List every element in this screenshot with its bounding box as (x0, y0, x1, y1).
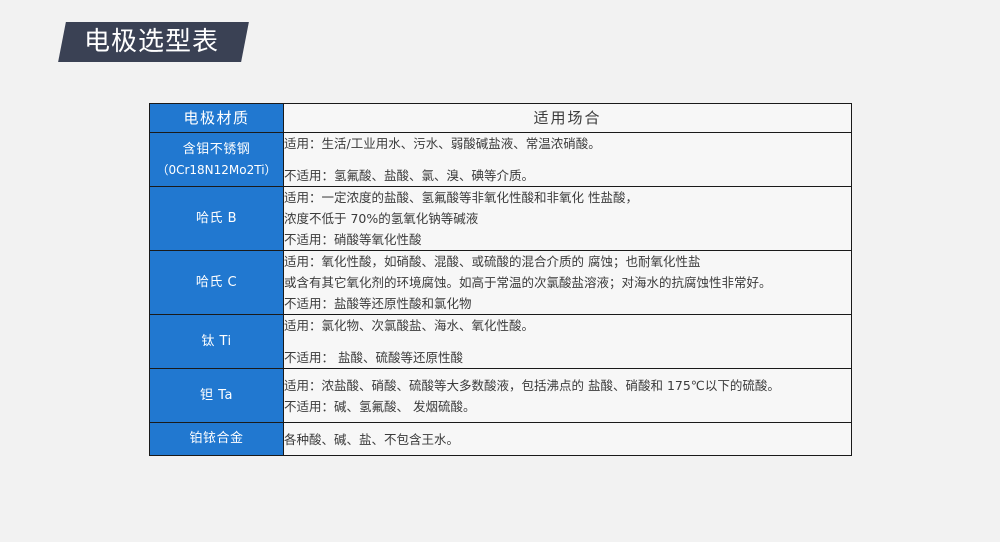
application-line: 不适用：盐酸等还原性酸和氯化物 (284, 293, 851, 314)
application-line: 适用：氧化性酸，如硝酸、混酸、或硫酸的混合介质的 腐蚀；也耐氧化性盐 (284, 251, 851, 272)
application-line: 适用：浓盐酸、硝酸、硫酸等大多数酸液，包括沸点的 盐酸、硝酸和 175℃以下的硫… (284, 375, 851, 396)
material-cell: 含钼不锈钢（0Cr18N12Mo2Ti） (150, 133, 284, 187)
application-cell: 适用：一定浓度的盐酸、氢氟酸等非氧化性酸和非氧化 性盐酸，浓度不低于 70%的氢… (284, 187, 852, 251)
material-name: 钛 Ti (201, 334, 231, 349)
table-row: 钛 Ti适用：氯化物、次氯酸盐、海水、氧化性酸。不适用： 盐酸、硫酸等还原性酸 (150, 315, 852, 369)
material-name: 含钼不锈钢 (183, 142, 251, 157)
material-cell: 哈氏 C (150, 251, 284, 315)
material-name: 铂铱合金 (189, 431, 243, 446)
application-cell: 各种酸、碱、盐、不包含王水。 (284, 423, 852, 456)
page-title: 电极选型表 (84, 29, 219, 55)
material-cell: 钽 Ta (150, 369, 284, 423)
application-line: 不适用：硝酸等氧化性酸 (284, 229, 851, 250)
application-line: 不适用：氢氟酸、盐酸、氯、溴、碘等介质。 (284, 165, 851, 186)
table-row: 钽 Ta适用：浓盐酸、硝酸、硫酸等大多数酸液，包括沸点的 盐酸、硝酸和 175℃… (150, 369, 852, 423)
application-line: 适用：生活/工业用水、污水、弱酸碱盐液、常温浓硝酸。 (284, 133, 851, 154)
application-cell: 适用：浓盐酸、硝酸、硫酸等大多数酸液，包括沸点的 盐酸、硝酸和 175℃以下的硫… (284, 369, 852, 423)
header-material: 电极材质 (150, 104, 284, 133)
page-title-badge: 电极选型表 (58, 22, 249, 62)
application-line: 各种酸、碱、盐、不包含王水。 (284, 429, 851, 450)
application-line: 或含有其它氧化剂的环境腐蚀。如高于常温的次氯酸盐溶液；对海水的抗腐蚀性非常好。 (284, 272, 851, 293)
table-row: 哈氏 B适用：一定浓度的盐酸、氢氟酸等非氧化性酸和非氧化 性盐酸，浓度不低于 7… (150, 187, 852, 251)
application-line: 适用：一定浓度的盐酸、氢氟酸等非氧化性酸和非氧化 性盐酸， (284, 187, 851, 208)
header-application: 适用场合 (284, 104, 852, 133)
material-name: 哈氏 C (196, 275, 237, 290)
electrode-selection-table: 电极材质 适用场合 含钼不锈钢（0Cr18N12Mo2Ti）适用：生活/工业用水… (149, 103, 852, 456)
material-cell: 铂铱合金 (150, 423, 284, 456)
application-cell: 适用：氧化性酸，如硝酸、混酸、或硫酸的混合介质的 腐蚀；也耐氧化性盐或含有其它氧… (284, 251, 852, 315)
table-row: 铂铱合金各种酸、碱、盐、不包含王水。 (150, 423, 852, 456)
application-cell: 适用：氯化物、次氯酸盐、海水、氧化性酸。不适用： 盐酸、硫酸等还原性酸 (284, 315, 852, 369)
application-line: 浓度不低于 70%的氢氧化钠等碱液 (284, 208, 851, 229)
table-row: 哈氏 C适用：氧化性酸，如硝酸、混酸、或硫酸的混合介质的 腐蚀；也耐氧化性盐或含… (150, 251, 852, 315)
material-cell: 钛 Ti (150, 315, 284, 369)
material-grade: （0Cr18N12Mo2Ti） (150, 160, 283, 180)
material-name: 钽 Ta (200, 388, 233, 403)
application-line: 不适用： 盐酸、硫酸等还原性酸 (284, 347, 851, 368)
material-cell: 哈氏 B (150, 187, 284, 251)
table-header-row: 电极材质 适用场合 (150, 104, 852, 133)
material-name: 哈氏 B (196, 211, 237, 226)
application-line: 不适用：碱、氢氟酸、 发烟硫酸。 (284, 396, 851, 417)
application-line: 适用：氯化物、次氯酸盐、海水、氧化性酸。 (284, 315, 851, 336)
table-row: 含钼不锈钢（0Cr18N12Mo2Ti）适用：生活/工业用水、污水、弱酸碱盐液、… (150, 133, 852, 187)
application-cell: 适用：生活/工业用水、污水、弱酸碱盐液、常温浓硝酸。不适用：氢氟酸、盐酸、氯、溴… (284, 133, 852, 187)
